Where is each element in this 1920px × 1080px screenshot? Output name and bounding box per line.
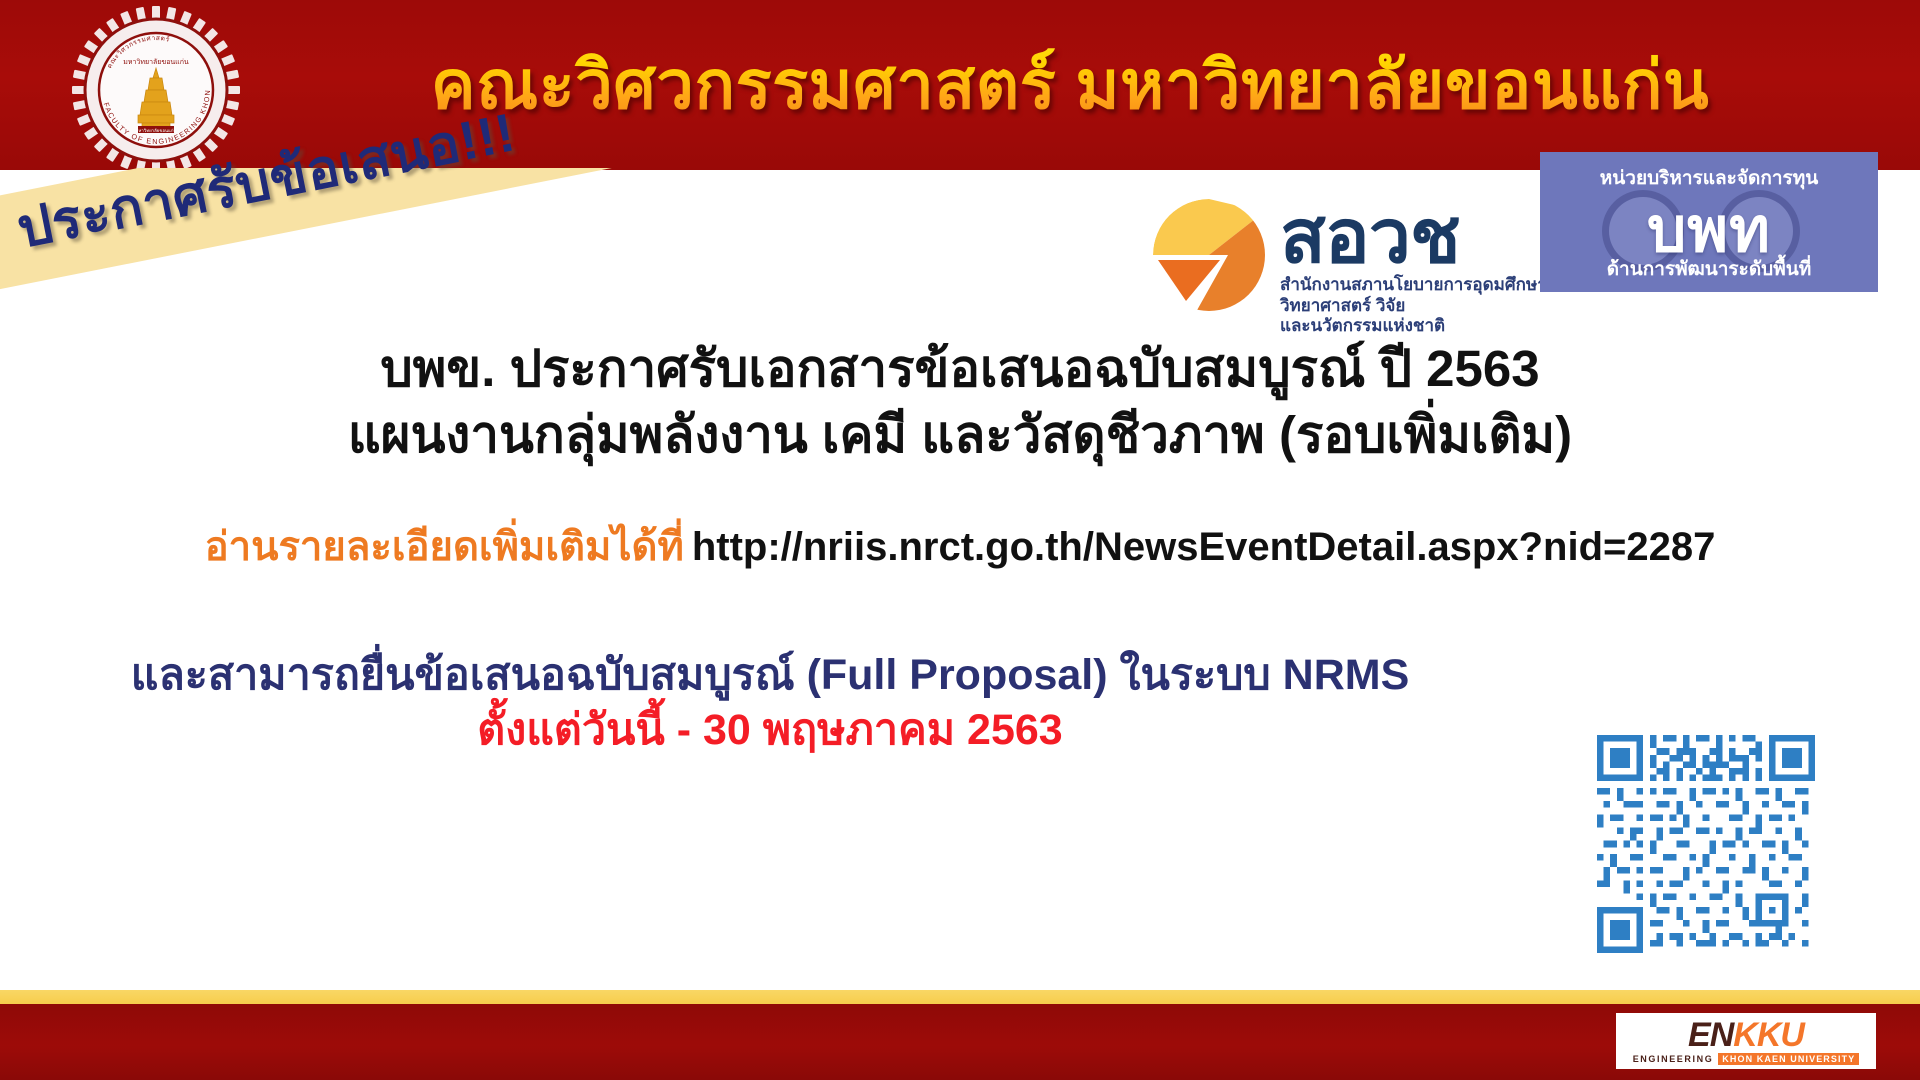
enkku-wordmark: EN KKU — [1688, 1018, 1804, 1052]
enkku-university-label: KHON KAEN UNIVERSITY — [1718, 1053, 1859, 1065]
enkku-sublabels: ENGINEERING KHON KAEN UNIVERSITY — [1633, 1053, 1860, 1065]
details-url-value[interactable]: http://nriis.nrct.go.th/NewsEventDetail.… — [692, 525, 1716, 569]
announcement-headline: บพข. ประกาศรับเอกสารข้อเสนอฉบับสมบูรณ์ ป… — [0, 336, 1920, 469]
bpt-logo: หน่วยบริหารและจัดการทุน บพท ด้านการพัฒนา… — [1540, 152, 1878, 292]
enkku-kku-text: KKU — [1733, 1018, 1804, 1052]
submission-instruction: และสามารถยื่นข้อเสนอฉบับสมบูรณ์ (Full Pr… — [0, 650, 1540, 701]
enkku-en-text: EN — [1688, 1018, 1733, 1052]
svg-text:มหาวิทยาลัยขอนแก่น: มหาวิทยาลัยขอนแก่น — [123, 58, 189, 66]
bpt-bottom-label: ด้านการพัฒนาระดับพื้นที่ — [1540, 254, 1878, 284]
nxpo-subtitle-line3: และนวัตกรรมแห่งชาติ — [1280, 316, 1547, 337]
nxpo-logo: สอวช สำนักงานสภานโยบายการอุดมศึกษา วิทยา… — [1152, 198, 1547, 337]
details-url-line: อ่านรายละเอียดเพิ่มเติมได้ที่http://nrii… — [0, 514, 1920, 578]
qr-code[interactable] — [1597, 735, 1815, 953]
details-url-label: อ่านรายละเอียดเพิ่มเติมได้ที่ — [205, 525, 684, 569]
svg-text:มหาวิทยาลัยขอนแก่น: มหาวิทยาลัยขอนแก่น — [135, 128, 176, 133]
nxpo-acronym: สอวช — [1280, 202, 1547, 271]
nxpo-subtitle-line1: สำนักงานสภานโยบายการอุดมศึกษา — [1280, 275, 1547, 296]
page-footer: EN KKU ENGINEERING KHON KAEN UNIVERSITY — [0, 1004, 1920, 1080]
footer-gold-strip — [0, 990, 1920, 1004]
enkku-engineering-label: ENGINEERING — [1633, 1054, 1714, 1064]
qr-code-icon[interactable] — [1597, 735, 1815, 953]
enkku-logo: EN KKU ENGINEERING KHON KAEN UNIVERSITY — [1616, 1013, 1876, 1069]
nxpo-mark-icon — [1152, 198, 1266, 312]
nxpo-subtitle: สำนักงานสภานโยบายการอุดมศึกษา วิทยาศาสตร… — [1280, 275, 1547, 337]
submission-deadline: ตั้งแต่วันนี้ - 30 พฤษภาคม 2563 — [0, 705, 1540, 756]
nxpo-subtitle-line2: วิทยาศาสตร์ วิจัย — [1280, 296, 1547, 317]
headline-line-2: แผนงานกลุ่มพลังงาน เคมี และวัสดุชีวภาพ (… — [0, 402, 1920, 468]
headline-line-1: บพข. ประกาศรับเอกสารข้อเสนอฉบับสมบูรณ์ ป… — [380, 340, 1539, 397]
nxpo-text-block: สอวช สำนักงานสภานโยบายการอุดมศึกษา วิทยา… — [1280, 198, 1547, 337]
